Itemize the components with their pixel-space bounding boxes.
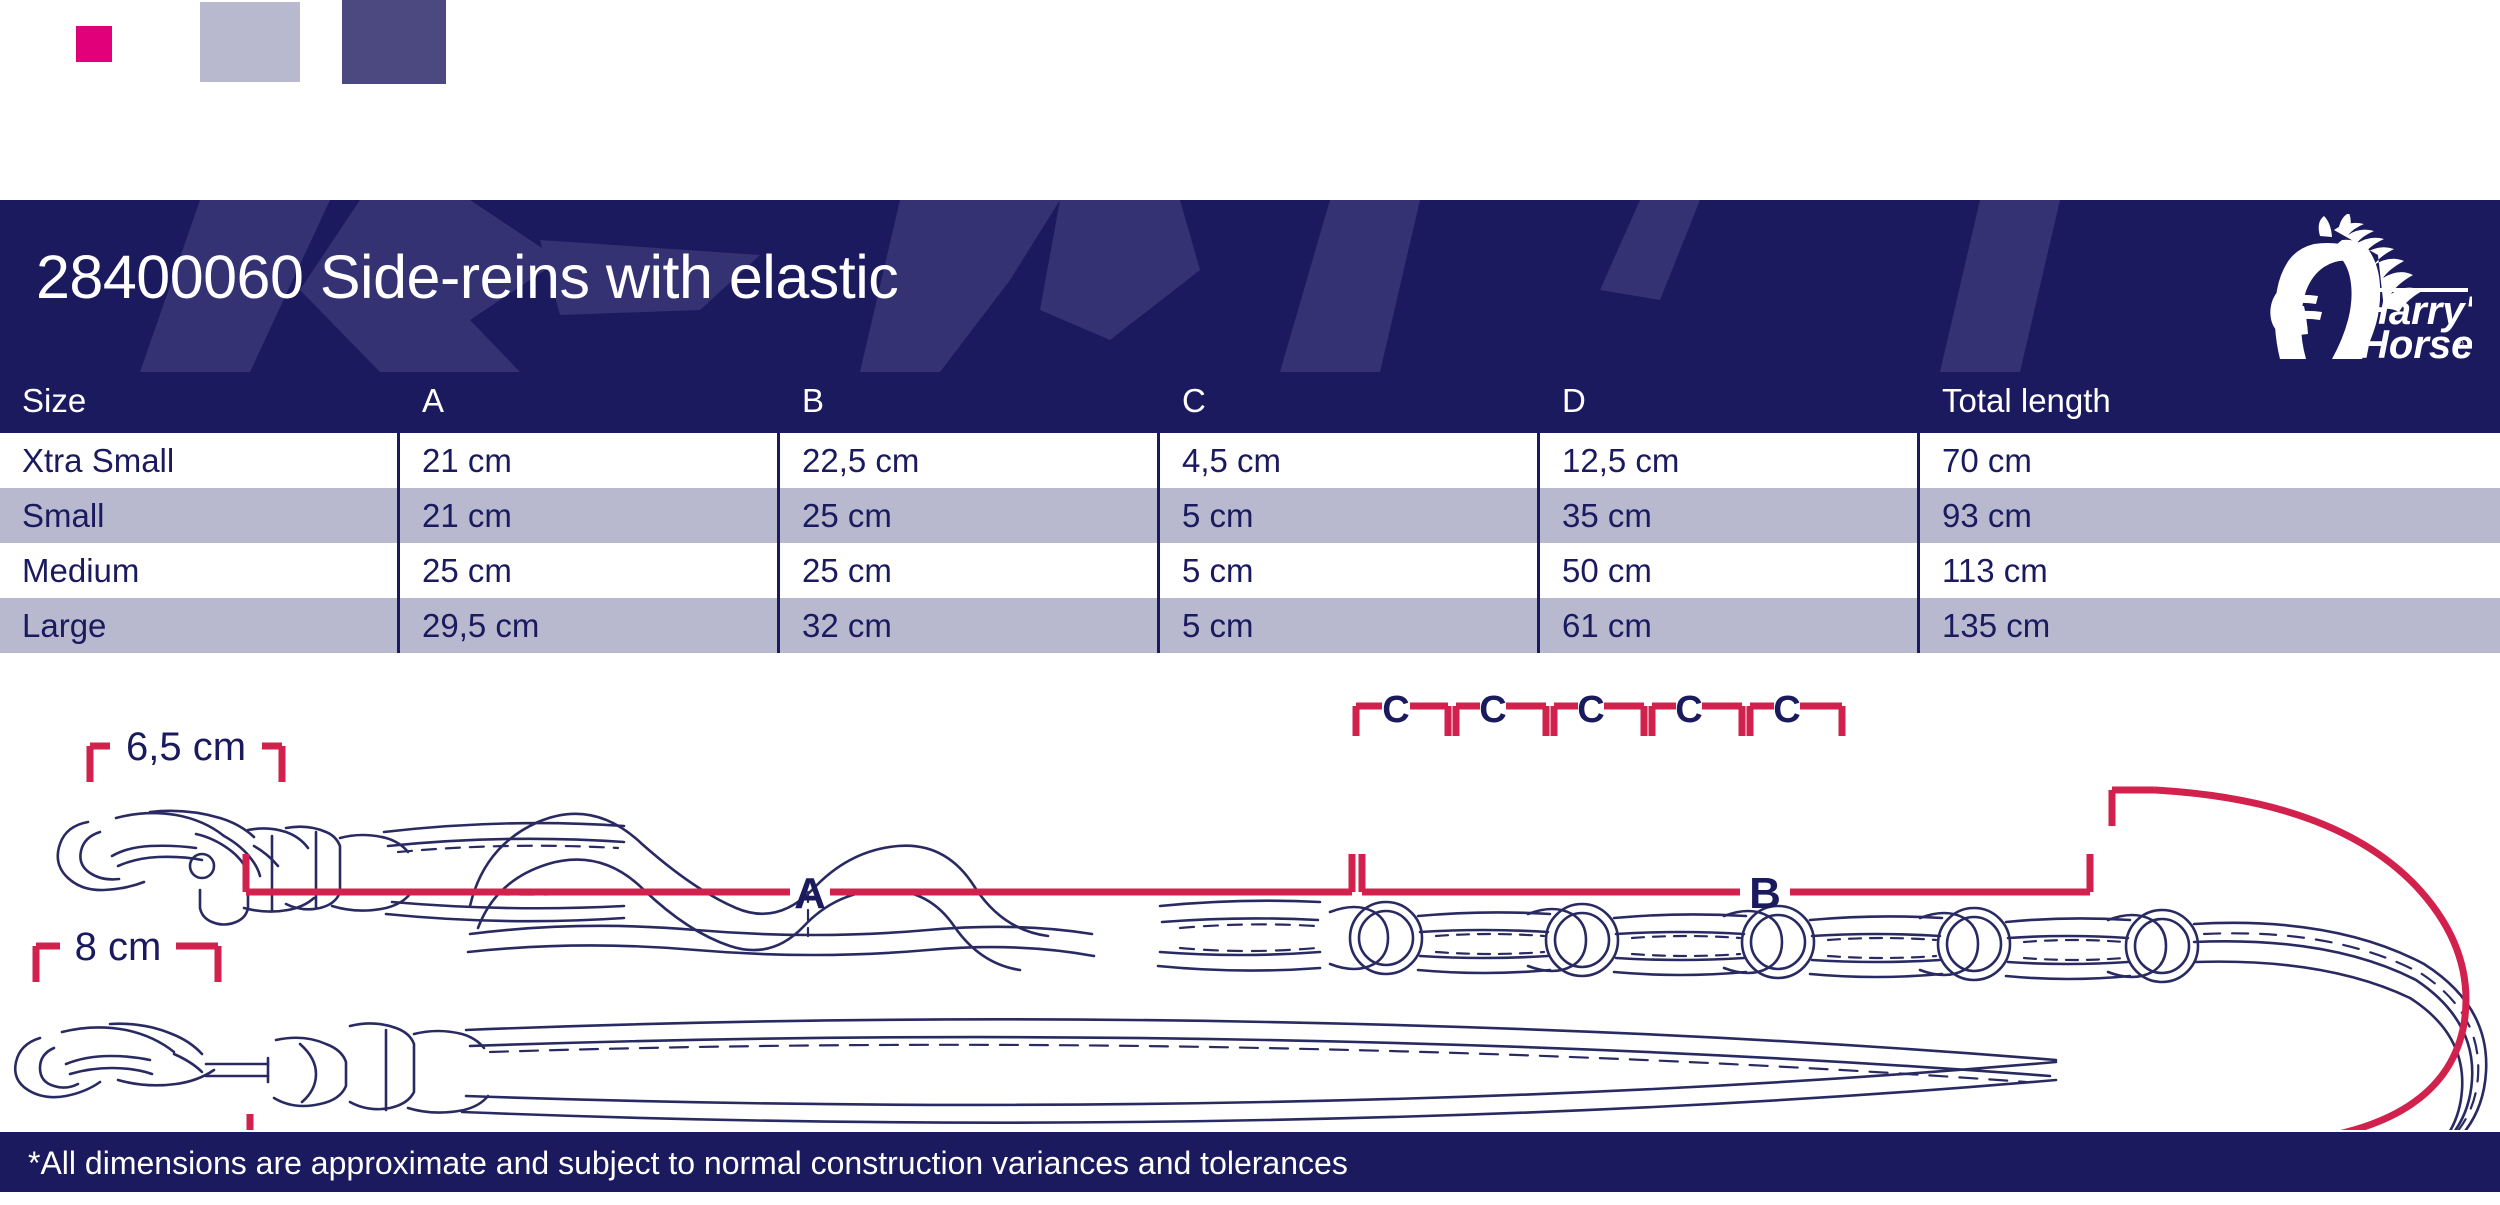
col-header-size: Size <box>0 372 400 430</box>
cell-b: 32 cm <box>780 598 1160 653</box>
dim-label-c: C <box>1382 689 1409 731</box>
cell-b: 25 cm <box>780 543 1160 598</box>
diagram-svg: A B D C C C C C 6,5 cm 8 cm <box>0 660 2500 1130</box>
upper-strap-to-rings <box>1158 901 1320 971</box>
cell-total: 135 cm <box>1920 598 2500 653</box>
swatch-dark-violet <box>342 0 446 84</box>
table-row: Small 21 cm 25 cm 5 cm 35 cm 93 cm <box>0 488 2500 543</box>
lower-snap-hook <box>15 1024 346 1106</box>
table-row: Xtra Small 21 cm 22,5 cm 4,5 cm 12,5 cm … <box>0 433 2500 488</box>
dim-label-c: C <box>1675 689 1702 731</box>
lower-strap-body <box>462 1019 2056 1122</box>
upper-strap-stitching <box>398 846 618 895</box>
cell-a: 21 cm <box>400 488 780 543</box>
cell-size: Xtra Small <box>0 433 400 488</box>
table-header-row: Size A B C D Total length <box>0 372 2500 430</box>
dim-label-6-5cm: 6,5 cm <box>126 725 246 769</box>
cell-size: Large <box>0 598 400 653</box>
svg-text:®: ® <box>2454 336 2464 351</box>
cell-d: 35 cm <box>1540 488 1920 543</box>
cell-b: 22,5 cm <box>780 433 1160 488</box>
cell-size: Small <box>0 488 400 543</box>
dim-label-d: D <box>1116 1127 1148 1130</box>
cell-total: 113 cm <box>1920 543 2500 598</box>
dim-label-c: C <box>1577 689 1604 731</box>
dim-label-c: C <box>1773 689 1800 731</box>
cell-d: 12,5 cm <box>1540 433 1920 488</box>
dim-label-c: C <box>1479 689 1506 731</box>
size-table: Size A B C D Total length Xtra Small 21 … <box>0 372 2500 653</box>
swatch-magenta <box>76 26 112 62</box>
footer-disclaimer: *All dimensions are approximate and subj… <box>28 1145 1348 1182</box>
dim-b-bracket <box>1362 854 2090 892</box>
col-header-a: A <box>400 372 780 430</box>
upper-snap-hook <box>58 811 314 925</box>
upper-keeper <box>286 827 410 911</box>
col-header-d: D <box>1540 372 1920 430</box>
dim-label-a: A <box>794 869 826 918</box>
table-row: Large 29,5 cm 32 cm 5 cm 61 cm 135 cm <box>0 598 2500 653</box>
color-swatch-strip <box>0 0 2500 200</box>
page-title: 28400060 Side-reins with elastic <box>36 242 898 312</box>
page-footer: *All dimensions are approximate and subj… <box>0 1132 2500 1192</box>
long-loop-right <box>2194 923 2486 1130</box>
cell-a: 21 cm <box>400 433 780 488</box>
cell-d: 61 cm <box>1540 598 1920 653</box>
cell-total: 93 cm <box>1920 488 2500 543</box>
col-header-c: C <box>1160 372 1540 430</box>
cell-a: 25 cm <box>400 543 780 598</box>
cell-c: 4,5 cm <box>1160 433 1540 488</box>
dim-label-b: B <box>1749 869 1781 918</box>
cell-c: 5 cm <box>1160 598 1540 653</box>
upper-strap-top-edge <box>384 823 624 832</box>
swatch-lavender <box>200 2 300 82</box>
cell-c: 5 cm <box>1160 543 1540 598</box>
cell-a: 29,5 cm <box>400 598 780 653</box>
cell-total: 70 cm <box>1920 433 2500 488</box>
page-header: 28400060 Side-reins with elastic Harry's… <box>0 200 2500 372</box>
cell-c: 5 cm <box>1160 488 1540 543</box>
cell-d: 50 cm <box>1540 543 1920 598</box>
col-header-b: B <box>780 372 1160 430</box>
lower-keeper <box>350 1023 488 1112</box>
col-header-total: Total length <box>1920 372 2500 430</box>
cell-b: 25 cm <box>780 488 1160 543</box>
table-row: Medium 25 cm 25 cm 5 cm 50 cm 113 cm <box>0 543 2500 598</box>
cell-size: Medium <box>0 543 400 598</box>
product-diagram: A B D C C C C C 6,5 cm 8 cm <box>0 660 2500 1130</box>
dim-label-8cm: 8 cm <box>75 925 162 969</box>
harrys-horse-logo: Harry's Horse ® <box>2242 214 2472 359</box>
